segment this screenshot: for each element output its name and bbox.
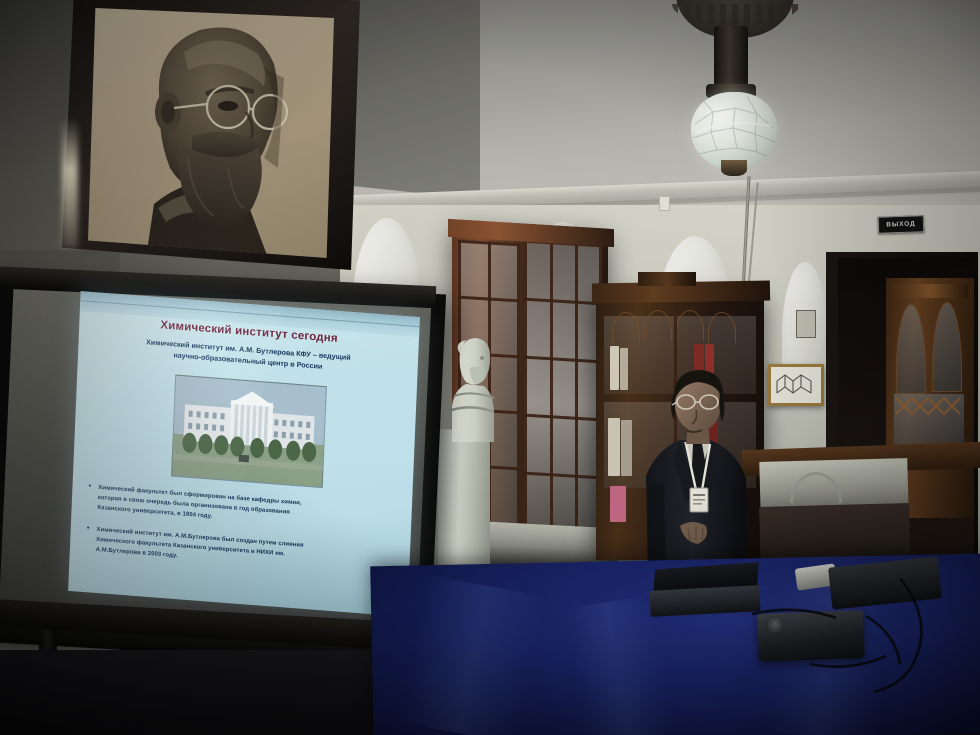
cabinet-side-mullions <box>524 240 602 541</box>
framed-small-notice <box>796 310 816 338</box>
presentation-slide: Химический институт сегодня Химический и… <box>68 291 420 617</box>
slide-building-photo <box>171 375 327 489</box>
portrait-artwork <box>88 8 334 258</box>
lamp-finial <box>721 160 747 176</box>
gothic-arch-pane-right <box>932 302 962 392</box>
exit-sign: ВЫХОД <box>878 215 925 234</box>
bullet-text-block: Химический институт им. А.М.Бутлерова бы… <box>95 525 303 571</box>
wall-switch[interactable] <box>659 196 670 211</box>
gothic-arch-pane-left <box>896 304 926 394</box>
archive-folder <box>608 418 620 476</box>
cabinet-side-glass <box>524 240 602 541</box>
cables <box>600 560 980 700</box>
bookcase-tracery-2 <box>644 310 672 341</box>
bullet-text-block: Химический факультет был сформирован на … <box>97 483 302 529</box>
archive-folder <box>610 486 626 522</box>
window-light-streak <box>62 118 78 248</box>
lamp-glass-globe <box>691 92 777 170</box>
bookcase-pediment <box>638 272 696 286</box>
archive-folder <box>610 346 619 390</box>
lamp-stem <box>714 26 748 92</box>
bullet-marker: • <box>86 524 90 555</box>
photo-scene: ВЫХОД <box>0 0 980 735</box>
exit-sign-label: ВЫХОД <box>886 220 916 228</box>
bullet-marker: • <box>87 482 91 513</box>
marble-bust <box>446 334 500 442</box>
archive-folder <box>620 348 628 390</box>
archive-folder <box>621 420 632 476</box>
framed-diagram <box>768 364 824 406</box>
presenter <box>636 358 758 586</box>
bookcase-tracery-3 <box>676 310 704 341</box>
